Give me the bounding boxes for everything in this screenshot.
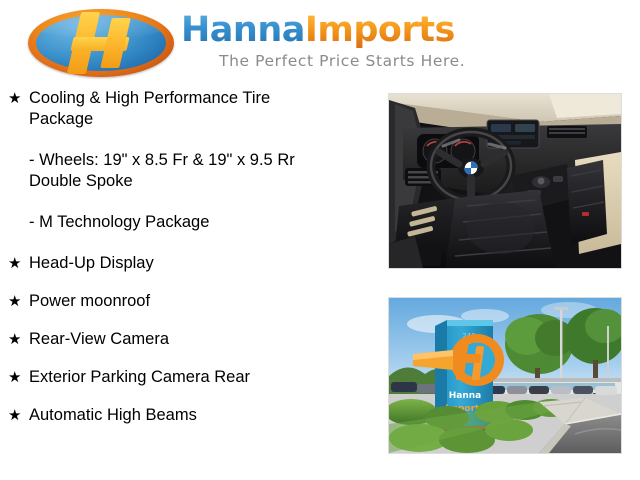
star-bullet-icon: ★ <box>8 329 21 350</box>
list-item-label: Automatic High Beams <box>29 405 380 426</box>
spacer <box>0 274 380 291</box>
star-bullet-icon: ★ <box>8 291 21 312</box>
list-item: ★ Automatic High Beams <box>0 405 380 426</box>
brand-wordmark-imports: Imports <box>305 10 455 50</box>
star-bullet-icon: ★ <box>8 253 21 274</box>
list-item-label: Head-Up Display <box>29 253 380 274</box>
brand-wordmark: HannaImports <box>181 13 455 48</box>
list-item: - M Technology Package <box>0 212 380 233</box>
brand-wordmark-hanna: Hanna <box>181 10 305 50</box>
list-item-label: Power moonroof <box>29 291 380 312</box>
hanna-oval-h-logo-icon <box>28 9 174 77</box>
vehicle-interior-illustration <box>389 94 621 268</box>
vehicle-interior-photo[interactable] <box>388 93 622 269</box>
list-item: ★ Exterior Parking Camera Rear <box>0 367 380 388</box>
list-item: ★ Head-Up Display <box>0 253 380 274</box>
spacer <box>0 233 380 253</box>
star-bullet-icon: ★ <box>8 88 21 109</box>
svg-text:Hanna: Hanna <box>449 391 482 401</box>
list-item-label: Exterior Parking Camera Rear <box>29 367 380 388</box>
list-item: ★ Rear-View Camera <box>0 329 380 350</box>
list-item-label: - M Technology Package <box>29 212 380 233</box>
spacer <box>0 192 380 212</box>
brand-tagline: The Perfect Price Starts Here. <box>219 52 465 70</box>
list-item: ★ Cooling & High Performance Tire Packag… <box>0 88 329 130</box>
list-item-label: - Wheels: 19" x 8.5 Fr & 19" x 9.5 Rr Do… <box>29 150 349 192</box>
spacer <box>0 350 380 367</box>
spacer <box>0 130 380 150</box>
list-item: ★ Power moonroof <box>0 291 380 312</box>
star-bullet-icon: ★ <box>8 367 21 388</box>
dealership-exterior-illustration: 240 Hanna Imports <box>389 298 621 453</box>
spacer <box>0 312 380 329</box>
list-item: - Wheels: 19" x 8.5 Fr & 19" x 9.5 Rr Do… <box>0 150 349 192</box>
dealership-exterior-photo[interactable]: 240 Hanna Imports <box>388 297 622 454</box>
list-item-label: Cooling & High Performance Tire Package <box>29 88 329 130</box>
vehicle-features-list: ★ Cooling & High Performance Tire Packag… <box>0 88 380 426</box>
brand-header: HannaImports The Perfect Price Starts He… <box>0 0 640 88</box>
spacer <box>0 388 380 405</box>
list-item-label: Rear-View Camera <box>29 329 380 350</box>
star-bullet-icon: ★ <box>8 405 21 426</box>
